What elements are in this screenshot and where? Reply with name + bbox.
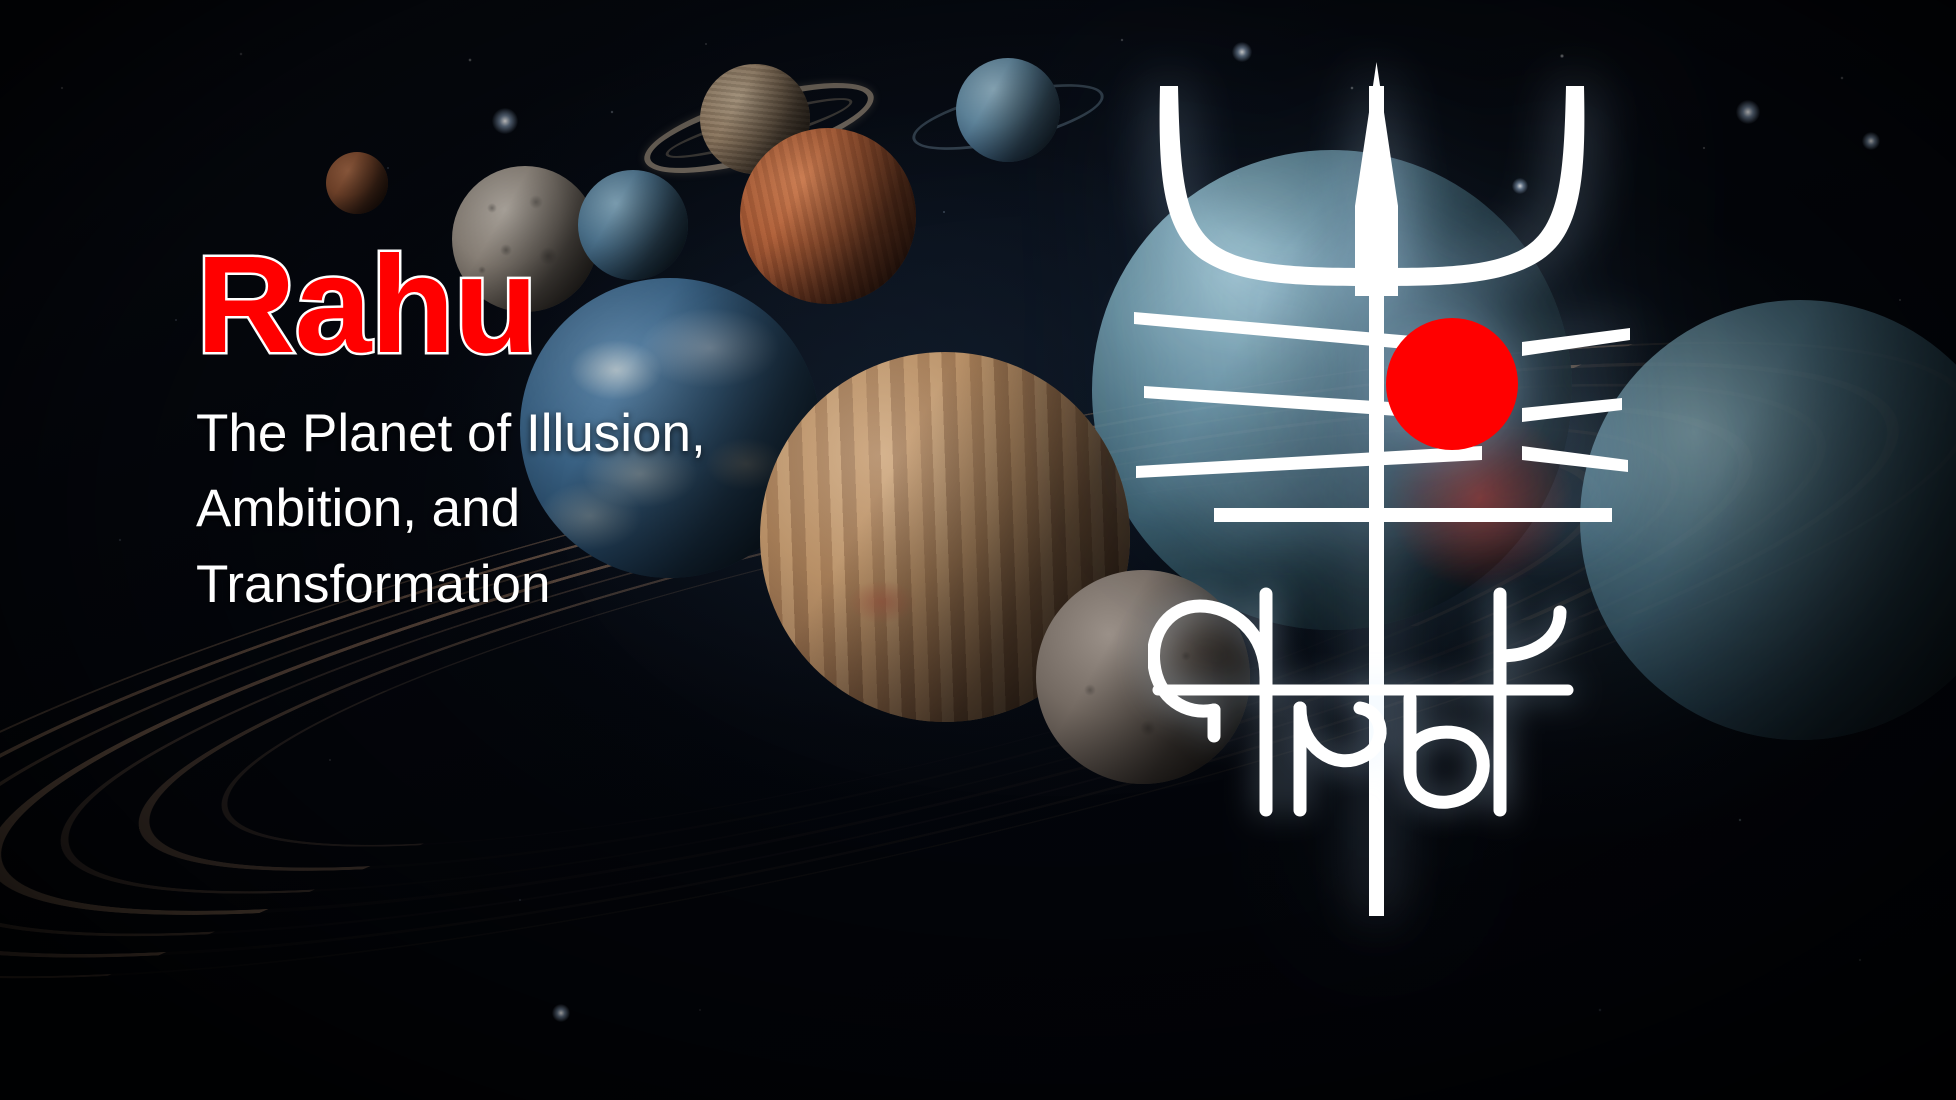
devanagari-shiva-text — [1148, 560, 1608, 820]
rahu-banner: Rahu The Planet of Illusion, Ambition, a… — [0, 0, 1956, 1100]
page-title: Rahu — [196, 236, 856, 374]
subtitle-line-3: Transformation — [196, 547, 856, 622]
headline-block: Rahu The Planet of Illusion, Ambition, a… — [196, 236, 856, 622]
subtitle-line-2: Ambition, and — [196, 471, 856, 546]
page-subtitle: The Planet of Illusion, Ambition, and Tr… — [196, 396, 856, 622]
subtitle-line-1: The Planet of Illusion, — [196, 396, 856, 471]
